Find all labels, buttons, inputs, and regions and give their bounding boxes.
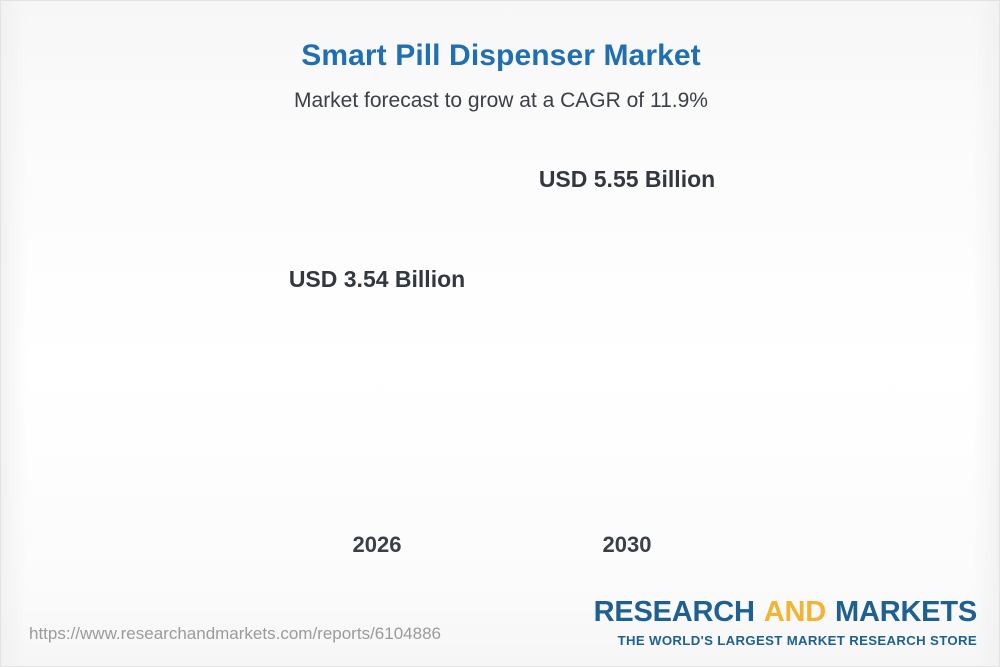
category-label-2030: 2030 [507, 532, 747, 558]
bar-value-label-2026: USD 3.54 Billion [257, 266, 497, 293]
logo-wordmark: RESEARCHANDMARKETS [594, 598, 977, 627]
logo-word-and: AND [764, 596, 826, 628]
source-url[interactable]: https://www.researchandmarkets.com/repor… [29, 624, 441, 644]
brand-logo[interactable]: RESEARCHANDMARKETS THE WORLD'S LARGEST M… [594, 598, 977, 648]
chart-header: Smart Pill Dispenser Market Market forec… [1, 1, 1000, 113]
page-title: Smart Pill Dispenser Market [1, 1, 1000, 74]
logo-tagline: THE WORLD'S LARGEST MARKET RESEARCH STOR… [594, 633, 977, 648]
infographic-chart: Smart Pill Dispenser Market Market forec… [0, 0, 1000, 667]
logo-word-markets: MARKETS [835, 596, 977, 628]
category-label-2026: 2026 [257, 532, 497, 558]
chart-subtitle: Market forecast to grow at a CAGR of 11.… [1, 74, 1000, 113]
bar-value-label-2030: USD 5.55 Billion [507, 166, 747, 193]
logo-word-research: RESEARCH [594, 596, 755, 628]
